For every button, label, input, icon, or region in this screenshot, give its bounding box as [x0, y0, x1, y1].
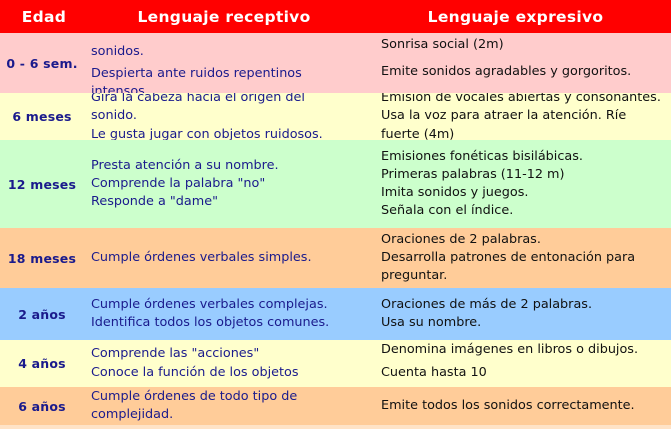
cell-receptive: Presta atención a su nombre.Comprende la…	[88, 140, 360, 228]
cell-receptive: Gira la cabeza hacia el origen del sonid…	[88, 93, 360, 140]
cell-expressive: Emite todos los sonidos correctamente.	[360, 387, 671, 425]
table-row: 2 añosCumple órdenes verbales complejas.…	[0, 288, 671, 340]
receptive-line: complejidad.	[91, 406, 354, 424]
cell-receptive: Modifica la succión al cambio desonidos.…	[88, 33, 360, 93]
receptive-line: Conoce la función de los objetos	[91, 364, 354, 382]
receptive-line: Despierta ante ruidos repentinos intenso…	[91, 65, 354, 93]
table-row: 12 mesesPresta atención a su nombre.Comp…	[0, 140, 671, 228]
column-header-expressive: Lenguaje expresivo	[360, 8, 671, 26]
table-row: 6 mesesGira la cabeza hacia el origen de…	[0, 93, 671, 140]
cell-age: 0 - 6 sem.	[0, 33, 88, 93]
table-body: 0 - 6 sem.Modifica la succión al cambio …	[0, 33, 671, 425]
cell-expressive: Sonrisa social (2m)Emite sonidos agradab…	[360, 33, 671, 93]
receptive-line: Cumple órdenes verbales simples.	[91, 249, 354, 267]
table-row: 6 añosCumple órdenes de todo tipo decomp…	[0, 387, 671, 425]
cell-age: 2 años	[0, 288, 88, 340]
expressive-line: Emisión de vocales abiertas y consonante…	[381, 93, 665, 107]
receptive-line: Le gusta jugar con objetos ruidosos.	[91, 126, 354, 140]
expressive-line: Denomina imágenes en libros o dibujos.	[381, 341, 665, 359]
expressive-line: Usa su nombre.	[381, 314, 665, 332]
expressive-line: Emite sonidos agradables y gorgoritos.	[381, 63, 665, 81]
expressive-line: Señala con el índice.	[381, 202, 665, 220]
receptive-line: Responde a "dame"	[91, 193, 354, 211]
cell-age: 6 meses	[0, 93, 88, 140]
expressive-line: Imita sonidos y juegos.	[381, 184, 665, 202]
receptive-line: Presta atención a su nombre.	[91, 157, 354, 175]
receptive-line: Comprende las "acciones"	[91, 345, 354, 363]
table-row: 18 mesesCumple órdenes verbales simples.…	[0, 228, 671, 288]
receptive-line: Cumple órdenes verbales complejas.	[91, 296, 354, 314]
cell-expressive: Emisión de vocales abiertas y consonante…	[360, 93, 671, 140]
receptive-line: Gira la cabeza hacia el origen del sonid…	[91, 93, 354, 126]
receptive-line: Comprende la palabra "no"	[91, 175, 354, 193]
development-milestones-table: Edad Lenguaje receptivo Lenguaje expresi…	[0, 0, 671, 429]
table-bottom-trim	[0, 425, 671, 429]
expressive-line: Primeras palabras (11-12 m)	[381, 166, 665, 184]
expressive-line: Desarrolla patrones de entonación para p…	[381, 249, 665, 285]
expressive-line: Usa la voz para atraer la atención. Ríe …	[381, 107, 665, 140]
cell-age: 4 años	[0, 340, 88, 387]
cell-receptive: Cumple órdenes de todo tipo decomplejida…	[88, 387, 360, 425]
cell-age: 18 meses	[0, 228, 88, 288]
expressive-line: Oraciones de más de 2 palabras.	[381, 296, 665, 314]
cell-expressive: Oraciones de más de 2 palabras.Usa su no…	[360, 288, 671, 340]
cell-age: 12 meses	[0, 140, 88, 228]
cell-expressive: Emisiones fonéticas bisilábicas.Primeras…	[360, 140, 671, 228]
cell-age: 6 años	[0, 387, 88, 425]
expressive-line: Cuenta hasta 10	[381, 364, 665, 382]
column-header-receptive: Lenguaje receptivo	[88, 8, 360, 26]
column-header-age: Edad	[0, 8, 88, 26]
table-header-row: Edad Lenguaje receptivo Lenguaje expresi…	[0, 0, 671, 33]
table-row: 0 - 6 sem.Modifica la succión al cambio …	[0, 33, 671, 93]
cell-receptive: Cumple órdenes verbales simples.	[88, 228, 360, 288]
receptive-line: Cumple órdenes de todo tipo de	[91, 388, 354, 406]
table-row: 4 añosComprende las "acciones"Conoce la …	[0, 340, 671, 387]
receptive-line: Modifica la succión al cambio de	[91, 33, 354, 39]
expressive-line: Sonrisa social (2m)	[381, 36, 665, 54]
cell-expressive: Denomina imágenes en libros o dibujos.Cu…	[360, 340, 671, 387]
expressive-line: Emisiones fonéticas bisilábicas.	[381, 148, 665, 166]
receptive-line: sonidos.	[91, 43, 354, 61]
receptive-line: Identifica todos los objetos comunes.	[91, 314, 354, 332]
expressive-line: Oraciones de 2 palabras.	[381, 231, 665, 249]
cell-receptive: Cumple órdenes verbales complejas.Identi…	[88, 288, 360, 340]
cell-receptive: Comprende las "acciones"Conoce la funció…	[88, 340, 360, 387]
cell-expressive: Oraciones de 2 palabras.Desarrolla patro…	[360, 228, 671, 288]
expressive-line: Emite todos los sonidos correctamente.	[381, 397, 665, 415]
